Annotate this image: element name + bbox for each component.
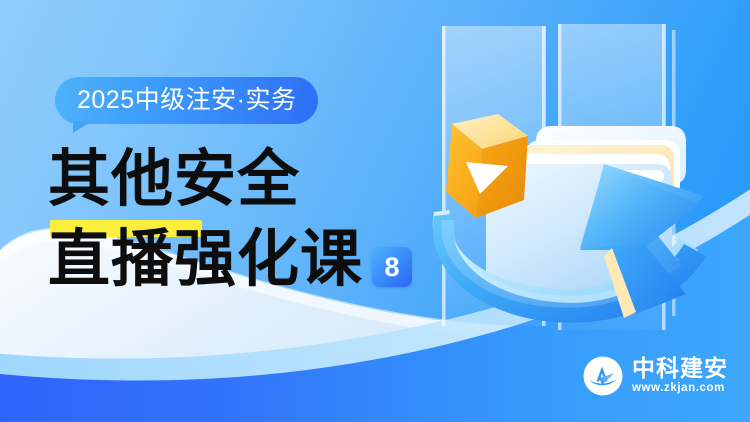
play-cube (446, 114, 528, 218)
episode-number-badge: 8 (372, 247, 412, 287)
course-illustration (398, 0, 750, 346)
headline-line-1-text: 其他安全 (48, 148, 300, 210)
headline-line-2-text: 直播强化课 (48, 228, 363, 290)
speech-bubble-tail-icon (73, 121, 92, 133)
headline-block: 其他安全 直播强化课 8 (48, 148, 412, 290)
course-tag-pill: 2025中级注安·实务 (55, 77, 318, 124)
course-promo-banner: 2025中级注安·实务 其他安全 直播强化课 8 中科建安 (0, 0, 750, 422)
episode-number-text: 8 (385, 254, 400, 281)
course-tag: 2025中级注安·实务 (55, 77, 318, 124)
course-tag-label: 2025中级注安·实务 (77, 88, 296, 113)
zhongke-jianan-circle-logo-icon (583, 356, 623, 396)
brand-logo[interactable]: 中科建安 www.zkjan.com (583, 356, 728, 396)
brand-text-block: 中科建安 www.zkjan.com (632, 357, 728, 395)
brand-name: 中科建安 (632, 357, 728, 380)
brand-url: www.zkjan.com (632, 383, 728, 395)
headline-line-2: 直播强化课 8 (48, 228, 412, 290)
headline-line-1: 其他安全 (48, 148, 412, 210)
